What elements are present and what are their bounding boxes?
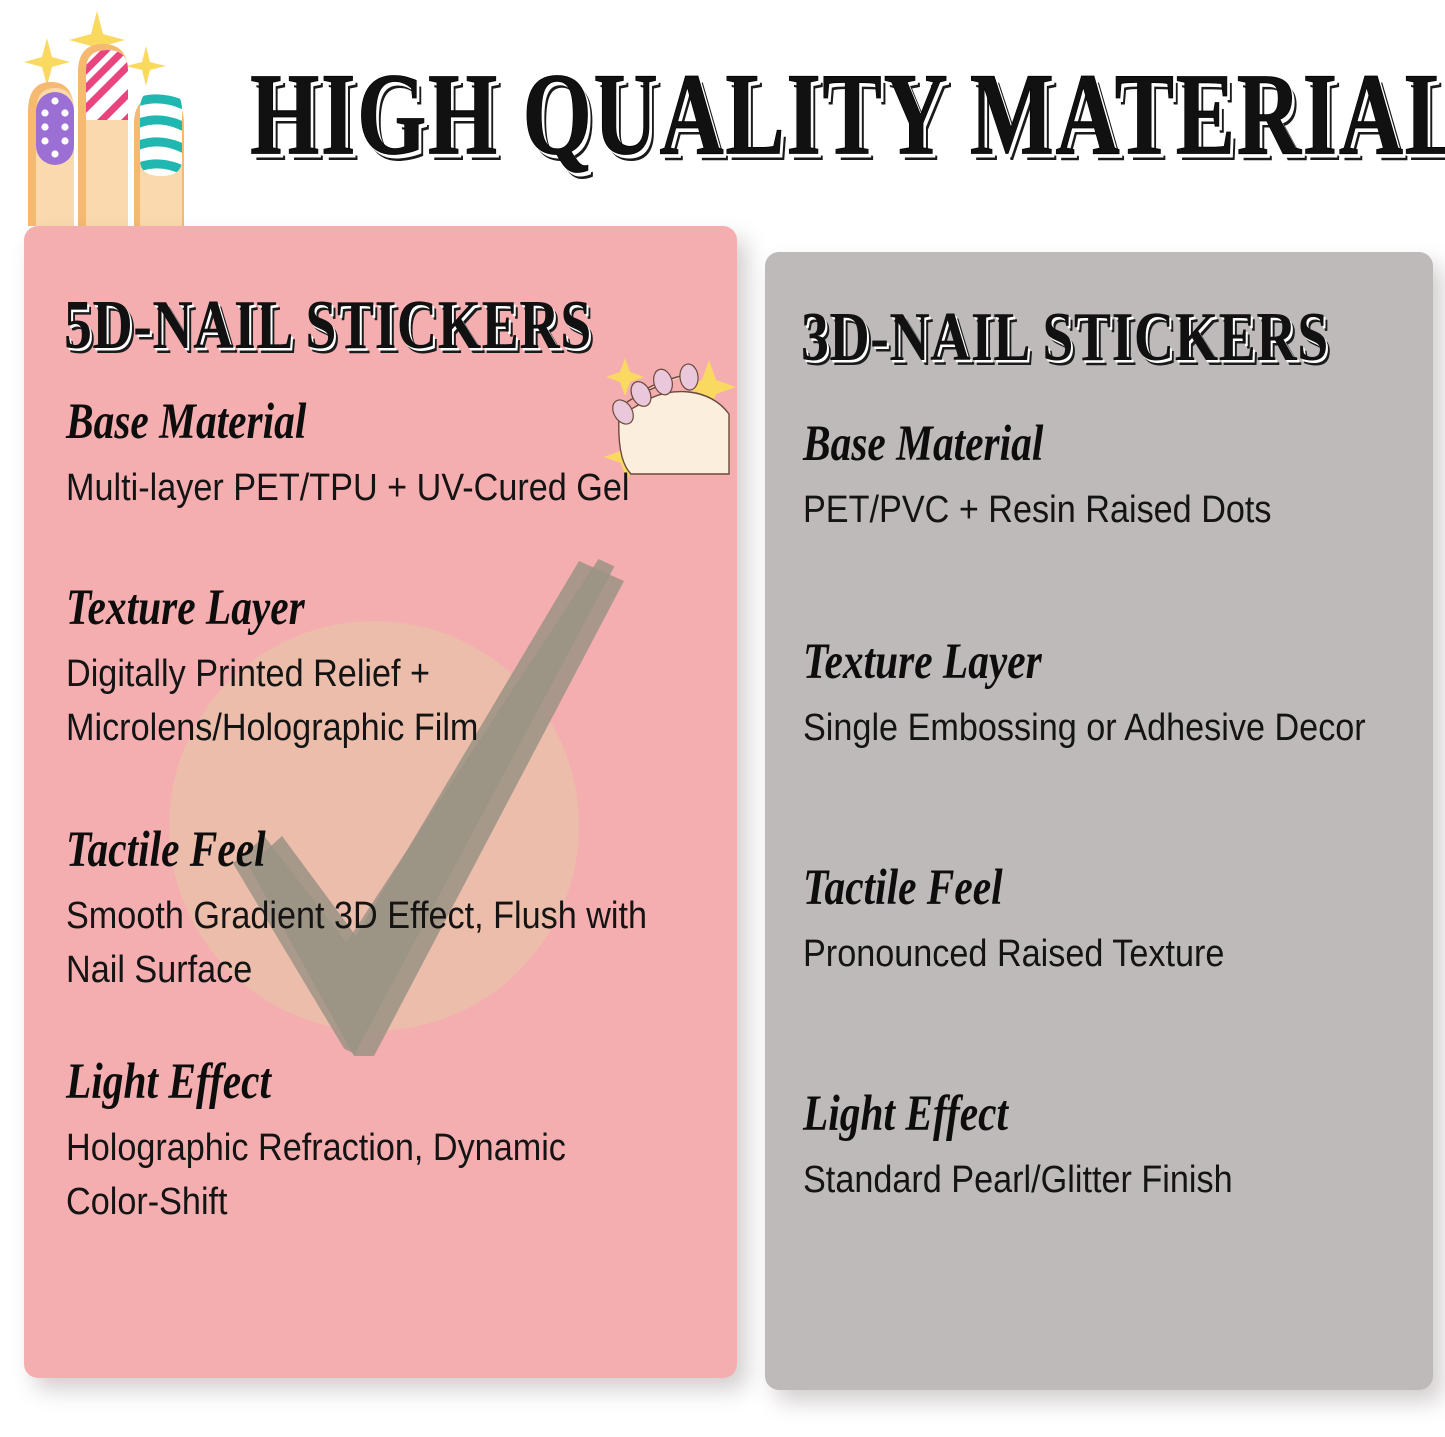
section-light-effect: Light Effect Standard Pearl/Glitter Fini… [765,1084,1433,1208]
section-texture-layer: Texture Layer Digitally Printed Relief +… [24,578,737,756]
section-label: Texture Layer [803,632,1383,690]
page-title: HIGH QUALITY MATERIALS [250,46,1404,200]
section-body: Digitally Printed Relief + Microlens/Hol… [66,648,534,756]
section-body: Single Embossing or Adhesive Decor [803,702,1370,756]
section-label: Texture Layer [66,578,683,636]
section-body: PET/PVC + Resin Raised Dots [803,484,1370,538]
sections-list-5d: Base Material Multi-layer PET/TPU + UV-C… [24,226,737,1378]
section-tactile-feel: Tactile Feel Smooth Gradient 3D Effect, … [24,820,737,998]
section-light-effect: Light Effect Holographic Refraction, Dyn… [24,1052,737,1230]
section-body: Holographic Refraction, Dynamic Color-Sh… [66,1122,624,1230]
section-label: Light Effect [66,1052,683,1110]
section-label: Base Material [803,414,1383,472]
section-tactile-feel: Tactile Feel Pronounced Raised Texture [765,858,1433,982]
comparison-panel-5d: 5D-NAIL STICKERS Base Material Multi-lay… [24,226,737,1378]
sections-list-3d: Base Material PET/PVC + Resin Raised Dot… [765,252,1433,1390]
page-header: HIGH QUALITY MATERIALS [0,0,1445,226]
section-body: Pronounced Raised Texture [803,928,1370,982]
section-body: Multi-layer PET/TPU + UV-Cured Gel [66,462,670,516]
section-label: Tactile Feel [66,820,683,878]
section-body: Standard Pearl/Glitter Finish [803,1154,1370,1208]
section-base-material: Base Material PET/PVC + Resin Raised Dot… [765,414,1433,538]
section-label: Base Material [66,392,683,450]
section-base-material: Base Material Multi-layer PET/TPU + UV-C… [24,392,737,516]
section-label: Tactile Feel [803,858,1383,916]
section-texture-layer: Texture Layer Single Embossing or Adhesi… [765,632,1433,756]
nail-art-icon [10,8,260,226]
comparison-panel-3d: 3D-NAIL STICKERS Base Material PET/PVC +… [765,252,1433,1390]
section-label: Light Effect [803,1084,1383,1142]
section-body: Smooth Gradient 3D Effect, Flush with Na… [66,890,660,998]
